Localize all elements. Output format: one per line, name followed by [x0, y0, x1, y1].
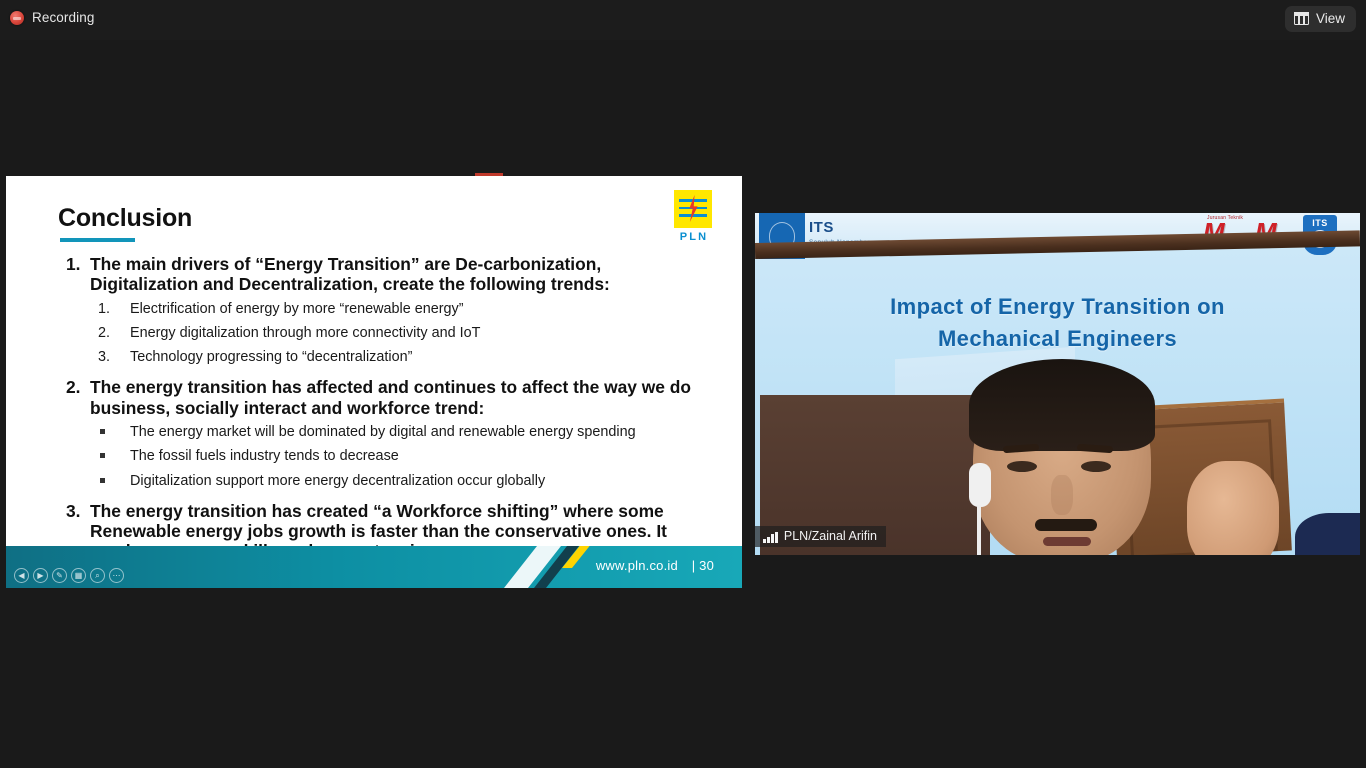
pln-mark-icon	[674, 190, 712, 228]
sub-text: Energy digitalization through more conne…	[130, 325, 480, 341]
slide-grid-button[interactable]: ▦	[71, 568, 86, 583]
item-number: 3.	[66, 501, 81, 521]
next-slide-button[interactable]: ▶	[33, 568, 48, 583]
speaker-moustache	[1035, 519, 1097, 531]
its-shield-text: ITS	[1303, 218, 1337, 228]
sub-marker: 1.	[98, 299, 110, 320]
speaker-eye-right	[1081, 461, 1111, 472]
speaker-hair	[969, 359, 1155, 451]
footer-website: www.pln.co.id	[596, 558, 678, 573]
item-text: The energy transition has affected and c…	[90, 377, 702, 418]
meeting-window: Recording View Conclusion PLN 1.	[0, 0, 1366, 768]
sub-text: Technology progressing to “decentralizat…	[130, 349, 412, 365]
sub-text: The energy market will be dominated by d…	[130, 424, 636, 440]
footer-decoration	[486, 546, 606, 588]
projected-title: Impact of Energy Transition on Mechanica…	[755, 291, 1360, 355]
participant-name-tag: PLN/Zainal Arifin	[755, 526, 886, 547]
footer-page-number: | 30	[692, 558, 714, 573]
square-bullet-icon	[100, 478, 105, 483]
list-item: 2. The energy transition has affected an…	[62, 377, 702, 491]
previous-slide-button[interactable]: ◀	[14, 568, 29, 583]
item-text: The main drivers of “Energy Transition” …	[90, 254, 702, 295]
layout-grid-icon	[1294, 12, 1309, 25]
sub-marker: 3.	[98, 347, 110, 368]
list-item: The fossil fuels industry tends to decre…	[90, 446, 702, 467]
earbud-cord	[977, 505, 981, 555]
shared-slide[interactable]: Conclusion PLN 1. The main drivers of “E…	[6, 176, 742, 588]
view-button[interactable]: View	[1285, 6, 1356, 32]
slide-content: 1. The main drivers of “Energy Transitio…	[62, 254, 702, 565]
list-item: 2. Energy digitalization through more co…	[90, 323, 702, 344]
pln-logo: PLN	[672, 190, 714, 243]
speaker-eye-left	[1007, 461, 1037, 472]
speaker-earbud	[969, 463, 991, 507]
sub-list: The energy market will be dominated by d…	[90, 422, 702, 492]
page-title: Conclusion	[58, 204, 192, 233]
footer-text: www.pln.co.id | 30	[596, 558, 714, 573]
more-options-button[interactable]: ⋯	[109, 568, 124, 583]
participant-name-label: PLN/Zainal Arifin	[784, 529, 877, 543]
slide-navigation-toolbar[interactable]: ◀ ▶ ✎ ▦ ⌕ ⋯	[14, 568, 124, 583]
title-underline	[60, 238, 135, 242]
zoom-tool-button[interactable]: ⌕	[90, 568, 105, 583]
item-number: 1.	[66, 254, 81, 274]
projected-title-line1: Impact of Energy Transition on	[755, 291, 1360, 323]
list-item: The energy market will be dominated by d…	[90, 422, 702, 443]
view-button-label: View	[1316, 11, 1345, 26]
participant-video-tile[interactable]: ITS Sepuluh Nopember Jurusan Teknik M M …	[755, 213, 1360, 555]
speaker-shoulder	[1295, 513, 1360, 555]
signal-bars-icon	[763, 532, 778, 543]
projected-title-line2: Mechanical Engineers	[755, 323, 1360, 355]
sub-text: Digitalization support more energy decen…	[130, 473, 545, 489]
speaker-hand	[1187, 461, 1279, 555]
recording-label: Recording	[32, 10, 94, 25]
item-number: 2.	[66, 377, 81, 397]
speaker-nose	[1051, 475, 1073, 515]
its-logo-text: ITS	[809, 219, 834, 236]
sub-text: The fossil fuels industry tends to decre…	[130, 448, 399, 464]
sub-text: Electrification of energy by more “renew…	[130, 301, 464, 317]
slide-footer: www.pln.co.id | 30 ◀ ▶ ✎ ▦ ⌕ ⋯	[6, 546, 742, 588]
list-item: 1. Electrification of energy by more “re…	[90, 299, 702, 320]
sub-list: 1. Electrification of energy by more “re…	[90, 299, 702, 369]
list-item: 1. The main drivers of “Energy Transitio…	[62, 254, 702, 368]
conclusion-list: 1. The main drivers of “Energy Transitio…	[62, 254, 702, 562]
speaker-mouth	[1043, 537, 1091, 546]
square-bullet-icon	[100, 429, 105, 434]
recording-indicator[interactable]: Recording	[10, 10, 94, 25]
list-item: 3. Technology progressing to “decentrali…	[90, 347, 702, 368]
sub-marker: 2.	[98, 323, 110, 344]
pln-logo-text: PLN	[672, 231, 714, 243]
pen-tool-button[interactable]: ✎	[52, 568, 67, 583]
record-dot-icon	[10, 11, 24, 25]
square-bullet-icon	[100, 453, 105, 458]
meeting-top-bar: Recording View	[0, 0, 1366, 40]
list-item: Digitalization support more energy decen…	[90, 471, 702, 492]
